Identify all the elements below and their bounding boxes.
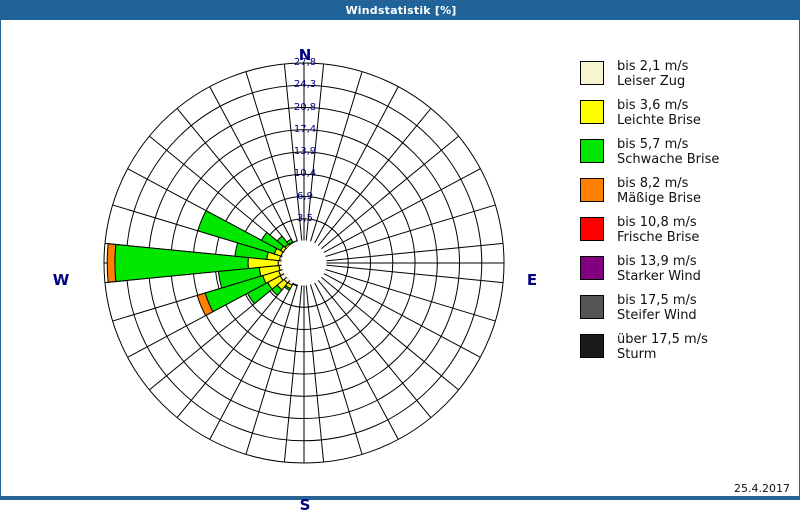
legend-label: bis 3,6 m/sLeichte Brise (617, 98, 701, 128)
polar-center-circle (282, 241, 326, 285)
legend-speed-range: bis 13,9 m/s (617, 254, 701, 269)
legend: bis 2,1 m/sLeiser Zugbis 3,6 m/sLeichte … (580, 59, 792, 371)
radial-tick-label: 10,4 (285, 168, 325, 179)
legend-color-swatch (580, 178, 604, 202)
legend-beaufort-name: Frische Brise (617, 230, 699, 245)
legend-color-swatch (580, 61, 604, 85)
legend-beaufort-name: Leiser Zug (617, 74, 688, 89)
legend-beaufort-name: Mäßige Brise (617, 191, 701, 206)
radial-tick-label: 17,4 (285, 124, 325, 135)
legend-beaufort-name: Sturm (617, 347, 708, 362)
window-title: Windstatistik [%] (345, 4, 456, 17)
legend-label: bis 2,1 m/sLeiser Zug (617, 59, 688, 89)
legend-item[interactable]: bis 5,7 m/sSchwache Brise (580, 137, 792, 167)
legend-speed-range: bis 2,1 m/s (617, 59, 688, 74)
legend-color-swatch (580, 334, 604, 358)
wind-rose-segment (107, 244, 116, 283)
legend-speed-range: bis 8,2 m/s (617, 176, 701, 191)
chart-plot-area: N E S W 3,56,910,413,917,420,824,327,8 b… (2, 21, 798, 498)
legend-label: bis 5,7 m/sSchwache Brise (617, 137, 719, 167)
compass-label-east: E (517, 271, 547, 289)
legend-item[interactable]: bis 10,8 m/sFrische Brise (580, 215, 792, 245)
legend-speed-range: bis 17,5 m/s (617, 293, 697, 308)
grid-spoke (246, 284, 298, 454)
radial-tick-label: 13,9 (285, 146, 325, 157)
wind-rose-chart (2, 21, 562, 498)
grid-spoke (310, 284, 362, 454)
radial-tick-label: 27,8 (285, 57, 325, 68)
radial-tick-label: 24,3 (285, 79, 325, 90)
legend-beaufort-name: Steifer Wind (617, 308, 697, 323)
legend-label: bis 17,5 m/sSteifer Wind (617, 293, 697, 323)
legend-label: bis 8,2 m/sMäßige Brise (617, 176, 701, 206)
legend-speed-range: bis 10,8 m/s (617, 215, 699, 230)
radial-tick-label: 6,9 (285, 191, 325, 202)
legend-speed-range: bis 5,7 m/s (617, 137, 719, 152)
legend-beaufort-name: Leichte Brise (617, 113, 701, 128)
legend-item[interactable]: bis 2,1 m/sLeiser Zug (580, 59, 792, 89)
legend-label: über 17,5 m/sSturm (617, 332, 708, 362)
legend-item[interactable]: bis 3,6 m/sLeichte Brise (580, 98, 792, 128)
legend-speed-range: bis 3,6 m/s (617, 98, 701, 113)
legend-color-swatch (580, 217, 604, 241)
legend-color-swatch (580, 100, 604, 124)
date-stamp: 25.4.2017 (734, 482, 790, 495)
legend-item[interactable]: bis 17,5 m/sSteifer Wind (580, 293, 792, 323)
legend-item[interactable]: bis 8,2 m/sMäßige Brise (580, 176, 792, 206)
legend-color-swatch (580, 295, 604, 319)
legend-beaufort-name: Schwache Brise (617, 152, 719, 167)
radial-tick-label: 20,8 (285, 102, 325, 113)
legend-beaufort-name: Starker Wind (617, 269, 701, 284)
center-hub (282, 241, 326, 285)
wind-rose-petals (107, 211, 297, 316)
legend-color-swatch (580, 139, 604, 163)
legend-item[interactable]: über 17,5 m/sSturm (580, 332, 792, 362)
radial-tick-label: 3,5 (285, 213, 325, 224)
legend-label: bis 13,9 m/sStarker Wind (617, 254, 701, 284)
window-title-bar: Windstatistik [%] (1, 1, 800, 20)
legend-speed-range: über 17,5 m/s (617, 332, 708, 347)
bottom-accent-strip (1, 496, 800, 499)
compass-label-west: W (46, 271, 76, 289)
grid-spoke (325, 269, 495, 321)
legend-color-swatch (580, 256, 604, 280)
legend-label: bis 10,8 m/sFrische Brise (617, 215, 699, 245)
grid-spoke (325, 205, 495, 257)
windstatistik-window: Windstatistik [%] N E S W 3,56,910,413,9… (0, 0, 800, 500)
legend-item[interactable]: bis 13,9 m/sStarker Wind (580, 254, 792, 284)
